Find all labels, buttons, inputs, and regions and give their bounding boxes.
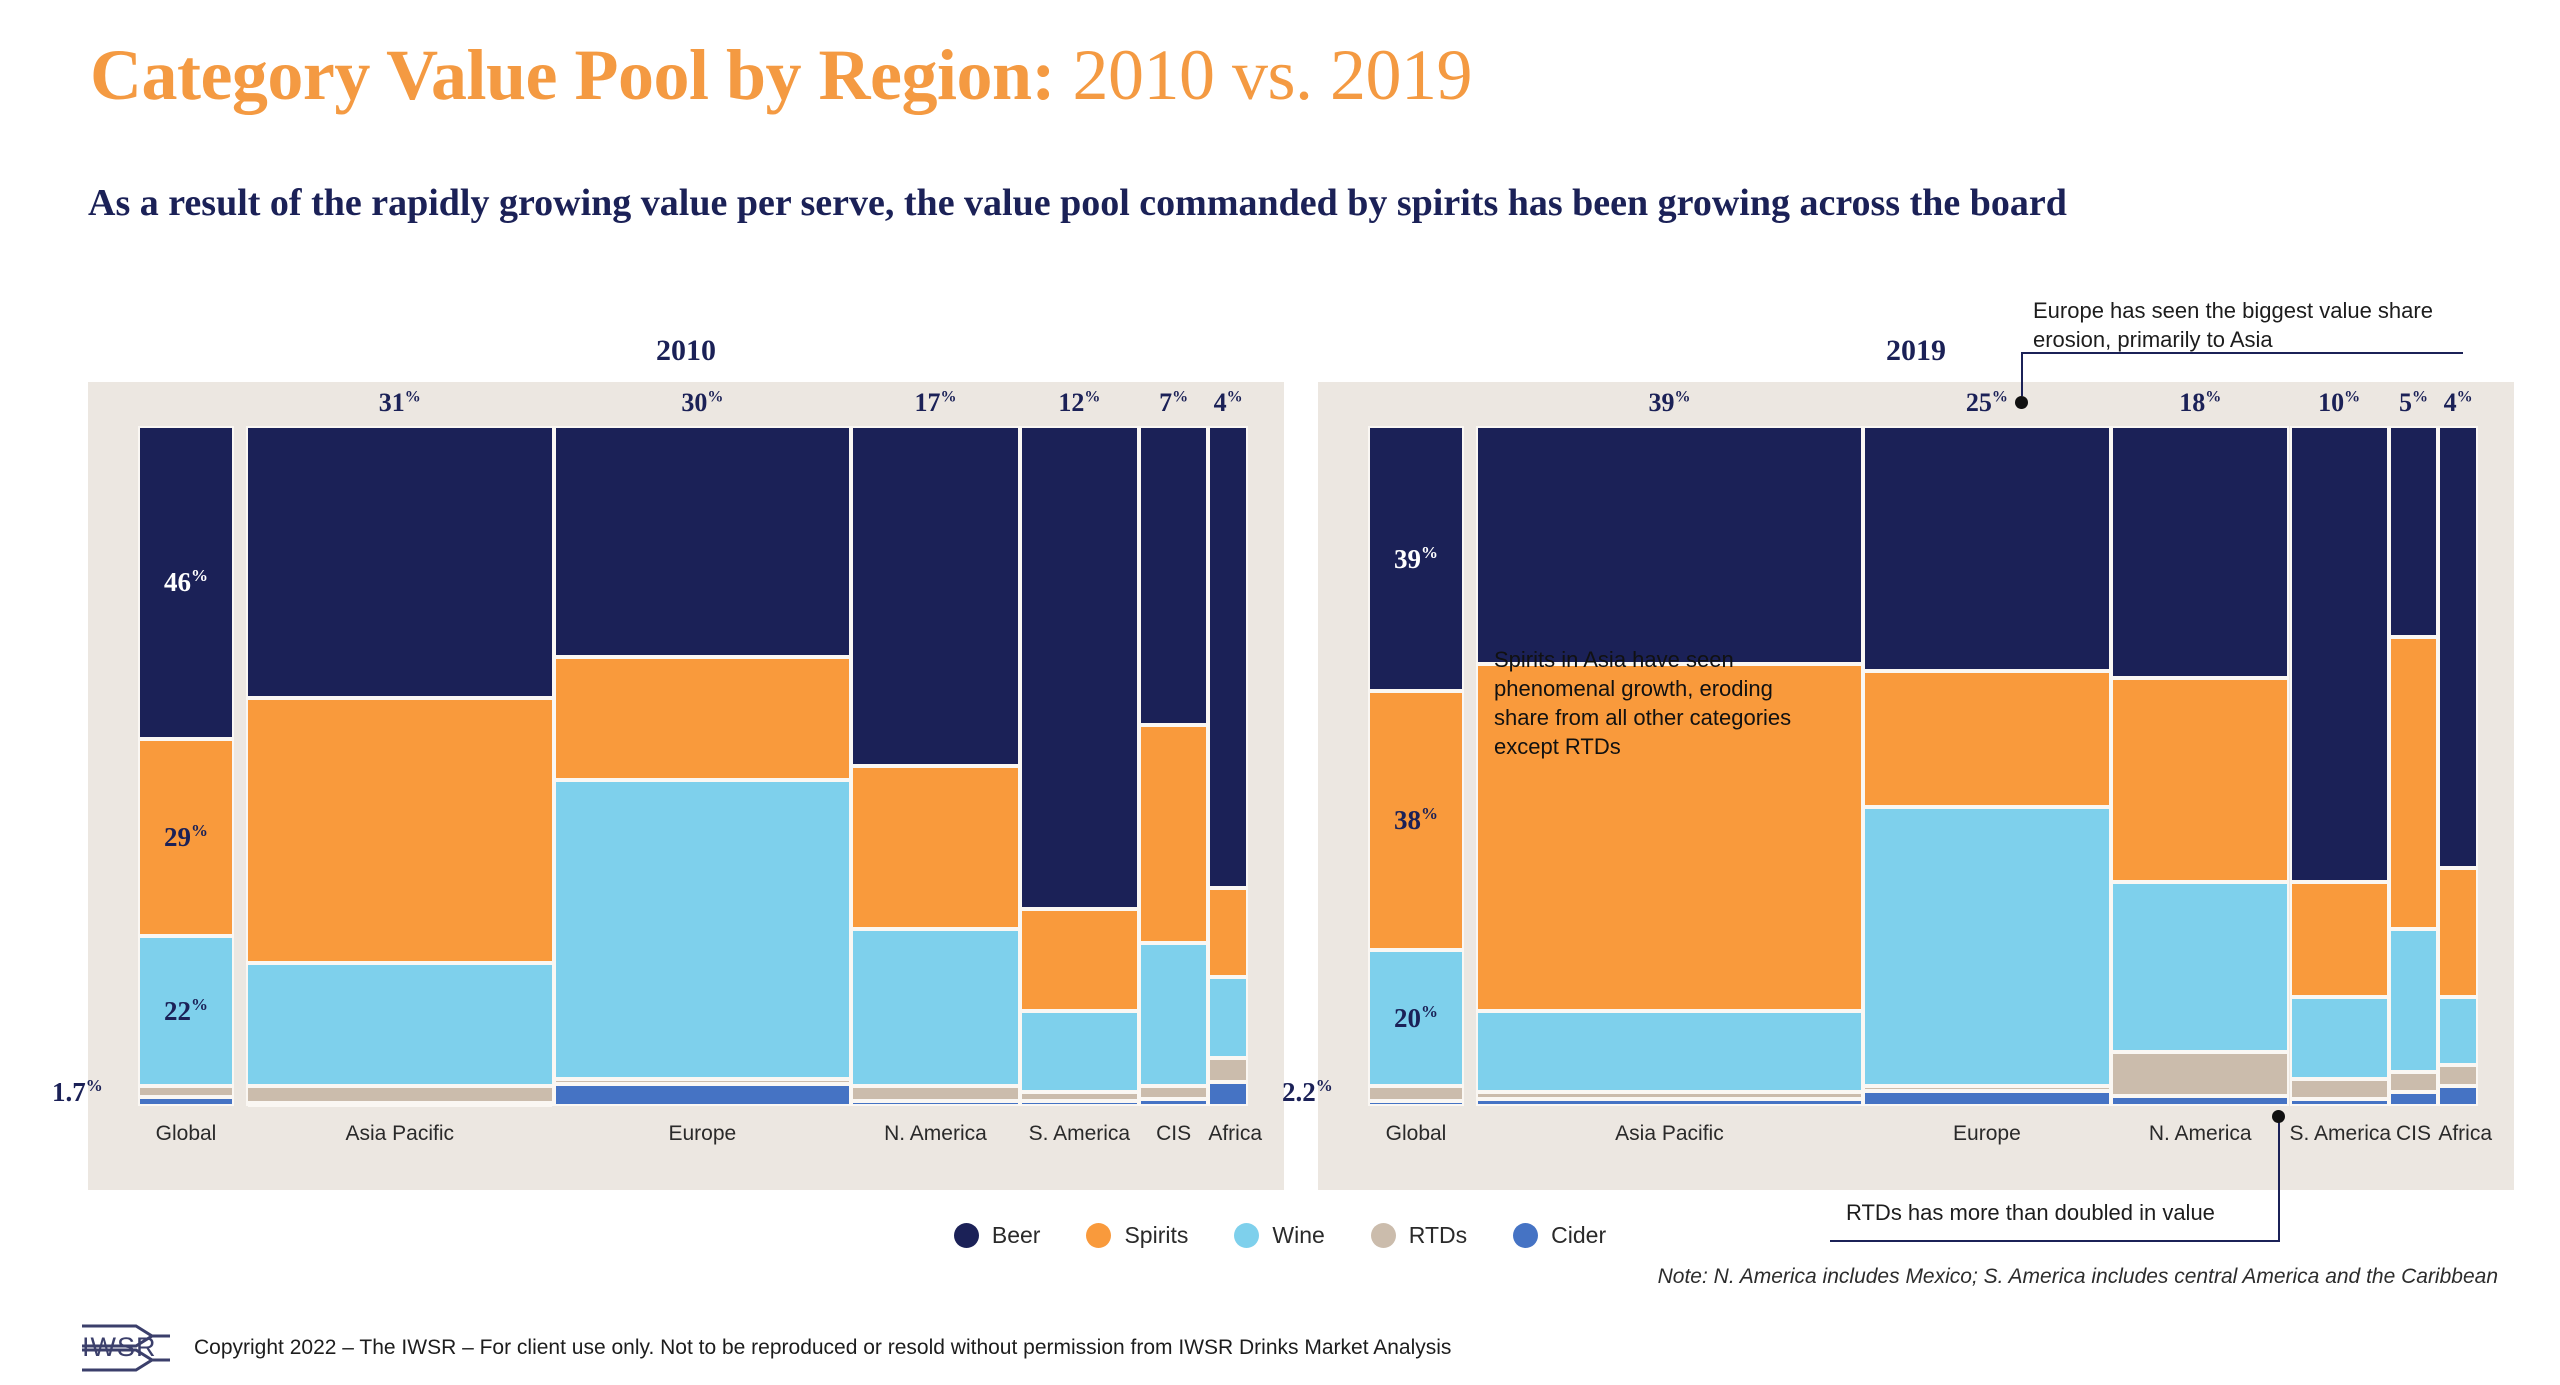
rtds-value-label-2019: 2.2% <box>1282 1076 1333 1108</box>
segment-cider-asiapacific[interactable] <box>248 1103 552 1107</box>
segment-rtds-africa[interactable] <box>1210 1058 1246 1082</box>
bar-column-global[interactable]: 46%29%22% <box>138 426 234 1106</box>
footer: IWSR Copyright 2022 – The IWSR – For cli… <box>78 1320 1451 1376</box>
chart-title-2010: 2010 <box>88 334 1284 368</box>
page-title-bold: Category Value Pool by Region: <box>90 35 1055 115</box>
x-axis-label-cis: CIS <box>1139 1122 1208 1146</box>
segment-beer-asiapacific[interactable] <box>1478 426 1861 664</box>
segment-spirits-samerica[interactable] <box>2292 882 2387 998</box>
segment-rtds-namerica[interactable] <box>2113 1052 2288 1096</box>
column-width-label-africa: 4% <box>1208 388 1248 418</box>
segment-rtds-samerica[interactable] <box>1022 1092 1137 1100</box>
segment-beer-cis[interactable] <box>1141 426 1206 725</box>
x-axis-label-asiapacific: Asia Pacific <box>246 1122 554 1146</box>
bar-column-europe[interactable] <box>1863 426 2111 1106</box>
bar-column-namerica[interactable] <box>851 426 1020 1106</box>
legend-swatch-cider-icon <box>1513 1223 1538 1248</box>
x-axis-label-namerica: N. America <box>851 1122 1020 1146</box>
column-width-label-africa: 4% <box>2438 388 2478 418</box>
x-axis-label-africa: Africa <box>2438 1122 2478 1146</box>
segment-cider-global[interactable] <box>140 1097 232 1106</box>
bar-column-africa[interactable] <box>2438 426 2478 1106</box>
segment-wine-europe[interactable] <box>1865 807 2109 1086</box>
segment-spirits-global[interactable]: 29% <box>140 739 232 936</box>
segment-cider-asiapacific[interactable] <box>1478 1099 1861 1106</box>
segment-beer-samerica[interactable] <box>2292 426 2387 882</box>
segment-rtds-global[interactable] <box>140 1086 232 1098</box>
segment-beer-europe[interactable] <box>556 426 850 657</box>
x-axis-label-samerica: S. America <box>1020 1122 1139 1146</box>
x-axis-label-samerica: S. America <box>2290 1122 2389 1146</box>
copyright-text: Copyright 2022 – The IWSR – For client u… <box>194 1336 1451 1360</box>
x-axis-label-europe: Europe <box>1863 1122 2111 1146</box>
segment-spirits-namerica[interactable] <box>853 766 1018 929</box>
column-width-label-namerica: 18% <box>2111 388 2290 418</box>
annotation-rtds: RTDs has more than doubled in value <box>1846 1198 2276 1227</box>
bar-column-asiapacific[interactable] <box>1476 426 1863 1106</box>
segment-spirits-africa[interactable] <box>1210 888 1246 976</box>
segment-value-label: 29% <box>140 821 232 853</box>
column-width-label-europe: 30% <box>554 388 852 418</box>
column-width-label-cis: 5% <box>2389 388 2439 418</box>
segment-spirits-global[interactable]: 38% <box>1370 691 1462 949</box>
segment-beer-namerica[interactable] <box>853 426 1018 766</box>
segment-beer-africa[interactable] <box>2440 426 2476 868</box>
segment-cider-africa[interactable] <box>2440 1086 2476 1106</box>
bar-column-namerica[interactable] <box>2111 426 2290 1106</box>
legend-item-spirits[interactable]: Spirits <box>1086 1222 1188 1249</box>
segment-wine-europe[interactable] <box>556 780 850 1079</box>
segment-rtds-cis[interactable] <box>1141 1086 1206 1100</box>
annotation-rtds-leader-horizontal <box>1830 1240 2280 1242</box>
segment-rtds-africa[interactable] <box>2440 1065 2476 1085</box>
segment-beer-africa[interactable] <box>1210 426 1246 888</box>
annotation-europe-dot <box>2015 396 2028 409</box>
segment-spirits-cis[interactable] <box>1141 725 1206 943</box>
segment-wine-namerica[interactable] <box>853 929 1018 1085</box>
segment-beer-europe[interactable] <box>1865 426 2109 671</box>
column-width-label-asiapacific: 31% <box>246 388 554 418</box>
legend-swatch-wine-icon <box>1234 1223 1259 1248</box>
column-width-label-europe: 25% <box>1863 388 2111 418</box>
footnote-note: Note: N. America includes Mexico; S. Ame… <box>1658 1265 2498 1289</box>
segment-cider-global[interactable] <box>1370 1101 1462 1106</box>
segment-value-label: 39% <box>1370 543 1462 575</box>
segment-beer-samerica[interactable] <box>1022 426 1137 909</box>
segment-wine-samerica[interactable] <box>1022 1011 1137 1093</box>
legend-swatch-spirits-icon <box>1086 1223 1111 1248</box>
column-width-label-asiapacific: 39% <box>1476 388 1863 418</box>
segment-wine-global[interactable]: 22% <box>140 936 232 1086</box>
bar-column-cis[interactable] <box>1139 426 1208 1106</box>
segment-rtds-asiapacific[interactable] <box>248 1086 552 1103</box>
page-subtitle: As a result of the rapidly growing value… <box>88 180 2488 226</box>
bar-column-samerica[interactable] <box>2290 426 2389 1106</box>
bar-column-cis[interactable] <box>2389 426 2439 1106</box>
legend-label: Spirits <box>1124 1222 1188 1249</box>
segment-cider-namerica[interactable] <box>853 1101 1018 1106</box>
segment-value-label: 22% <box>140 995 232 1027</box>
segment-wine-namerica[interactable] <box>2113 882 2288 1052</box>
column-width-label-samerica: 12% <box>1020 388 1139 418</box>
segment-rtds-samerica[interactable] <box>2292 1079 2387 1099</box>
x-axis-label-global: Global <box>138 1122 234 1146</box>
annotation-asia: Spirits in Asia have seen phenomenal gro… <box>1494 645 1814 761</box>
x-axis-label-namerica: N. America <box>2111 1122 2290 1146</box>
segment-beer-namerica[interactable] <box>2113 426 2288 678</box>
segment-beer-cis[interactable] <box>2391 426 2437 637</box>
rtds-value-label-2010: 1.7% <box>52 1076 103 1108</box>
x-axis-label-asiapacific: Asia Pacific <box>1476 1122 1863 1146</box>
segment-wine-samerica[interactable] <box>2292 997 2387 1079</box>
segment-value-label: 20% <box>1370 1002 1462 1034</box>
legend-swatch-beer-icon <box>954 1223 979 1248</box>
legend-label: Beer <box>992 1222 1041 1249</box>
segment-wine-asiapacific[interactable] <box>248 963 552 1085</box>
legend-item-rtds[interactable]: RTDs <box>1371 1222 1467 1249</box>
annotation-rtds-dot <box>2272 1110 2285 1123</box>
segment-cider-samerica[interactable] <box>1022 1101 1137 1106</box>
annotation-rtds-leader-vertical <box>2278 1116 2280 1242</box>
segment-spirits-europe[interactable] <box>1865 671 2109 807</box>
legend-item-wine[interactable]: Wine <box>1234 1222 1324 1249</box>
legend-label: Wine <box>1272 1222 1324 1249</box>
page-title: Category Value Pool by Region: 2010 vs. … <box>90 34 1472 117</box>
x-axis-label-cis: CIS <box>2389 1122 2439 1146</box>
segment-beer-global[interactable]: 39% <box>1370 426 1462 691</box>
segment-rtds-cis[interactable] <box>2391 1072 2437 1092</box>
iwsr-logo: IWSR <box>78 1320 176 1376</box>
x-axis-label-africa: Africa <box>1208 1122 1248 1146</box>
segment-wine-cis[interactable] <box>1141 943 1206 1086</box>
segment-wine-asiapacific[interactable] <box>1478 1011 1861 1093</box>
annotation-europe: Europe has seen the biggest value share … <box>2033 296 2463 354</box>
bar-column-asiapacific[interactable] <box>246 426 554 1106</box>
segment-spirits-cis[interactable] <box>2391 637 2437 929</box>
bar-column-samerica[interactable] <box>1020 426 1139 1106</box>
segment-cider-cis[interactable] <box>1141 1099 1206 1106</box>
bar-column-europe[interactable] <box>554 426 852 1106</box>
legend-item-cider[interactable]: Cider <box>1513 1222 1606 1249</box>
segment-cider-europe[interactable] <box>556 1084 850 1106</box>
legend-label: Cider <box>1551 1222 1606 1249</box>
segment-cider-europe[interactable] <box>1865 1091 2109 1106</box>
column-width-label-cis: 7% <box>1139 388 1208 418</box>
x-axis-label-europe: Europe <box>554 1122 852 1146</box>
bar-column-africa[interactable] <box>1208 426 1248 1106</box>
bar-column-global[interactable]: 39%38%20% <box>1368 426 1464 1106</box>
segment-rtds-asiapacific[interactable] <box>1478 1092 1861 1099</box>
segment-spirits-asiapacific[interactable] <box>248 698 552 963</box>
segment-wine-africa[interactable] <box>1210 977 1246 1059</box>
segment-wine-global[interactable]: 20% <box>1370 950 1462 1086</box>
segment-rtds-namerica[interactable] <box>853 1086 1018 1101</box>
segment-spirits-namerica[interactable] <box>2113 678 2288 882</box>
column-width-label-namerica: 17% <box>851 388 1020 418</box>
annotation-europe-leader-elbow <box>2021 352 2035 354</box>
segment-cider-namerica[interactable] <box>2113 1096 2288 1106</box>
page-title-regular: 2010 vs. 2019 <box>1055 35 1472 115</box>
segment-beer-asiapacific[interactable] <box>248 426 552 698</box>
legend-item-beer[interactable]: Beer <box>954 1222 1041 1249</box>
segment-wine-cis[interactable] <box>2391 929 2437 1072</box>
legend-swatch-rtds-icon <box>1371 1223 1396 1248</box>
iwsr-logo-text: IWSR <box>82 1332 157 1363</box>
legend-label: RTDs <box>1409 1222 1467 1249</box>
segment-cider-samerica[interactable] <box>2292 1099 2387 1106</box>
column-width-label-samerica: 10% <box>2290 388 2389 418</box>
segment-spirits-samerica[interactable] <box>1022 909 1137 1011</box>
segment-beer-global[interactable]: 46% <box>140 426 232 739</box>
x-axis-label-global: Global <box>1368 1122 1464 1146</box>
annotation-europe-leader-vertical <box>2021 352 2023 396</box>
segment-spirits-europe[interactable] <box>556 657 850 779</box>
segment-cider-cis[interactable] <box>2391 1092 2437 1106</box>
segment-rtds-global[interactable] <box>1370 1086 1462 1101</box>
segment-cider-africa[interactable] <box>1210 1082 1246 1106</box>
annotation-europe-leader-horizontal <box>2033 352 2463 354</box>
segment-spirits-africa[interactable] <box>2440 868 2476 997</box>
segment-value-label: 38% <box>1370 804 1462 836</box>
segment-value-label: 46% <box>140 566 232 598</box>
segment-wine-africa[interactable] <box>2440 997 2476 1065</box>
